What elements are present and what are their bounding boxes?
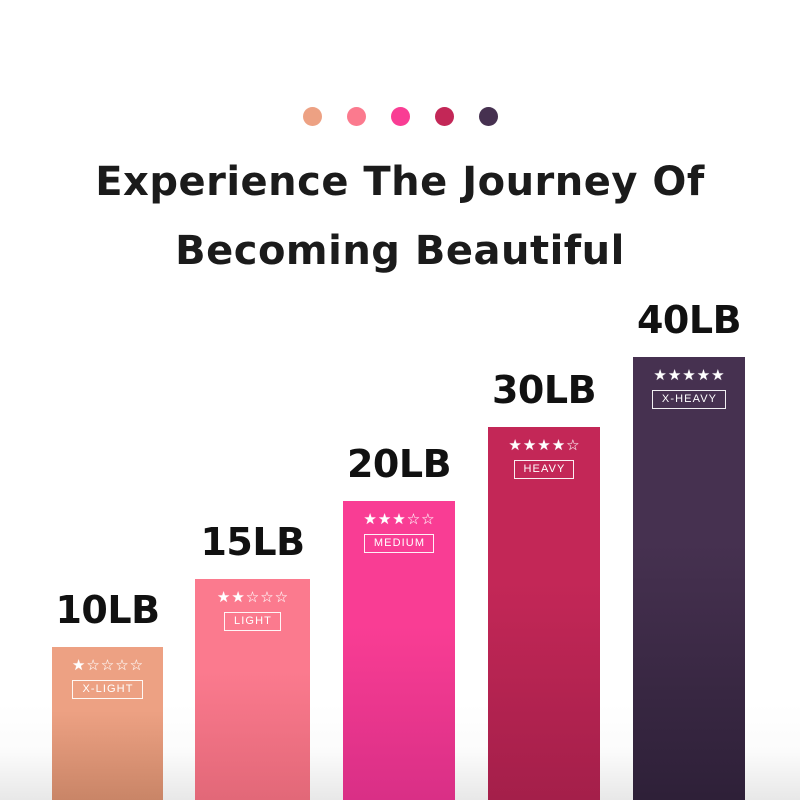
bar-group-20lb[interactable]: 20LB★★★☆☆MEDIUM	[343, 501, 455, 800]
star-empty-icon: ☆	[260, 590, 273, 605]
star-filled-icon: ★	[392, 512, 405, 527]
star-filled-icon: ★	[523, 438, 536, 453]
star-filled-icon: ★	[363, 512, 376, 527]
star-filled-icon: ★	[653, 368, 666, 383]
star-empty-icon: ☆	[275, 590, 288, 605]
star-filled-icon: ★	[508, 438, 521, 453]
bar-badge-20lb: ★★★☆☆MEDIUM	[343, 512, 455, 553]
level-label-x-light: X-LIGHT	[72, 680, 142, 699]
level-label-light: LIGHT	[224, 612, 281, 631]
bar-weight-label-15lb: 15LB	[200, 520, 304, 564]
star-empty-icon: ☆	[86, 658, 99, 673]
star-filled-icon: ★	[697, 368, 710, 383]
star-filled-icon: ★	[682, 368, 695, 383]
star-filled-icon: ★	[72, 658, 85, 673]
bar-weight-label-10lb: 10LB	[55, 588, 159, 632]
bar-weight-label-40lb: 40LB	[637, 298, 741, 342]
level-label-heavy: HEAVY	[514, 460, 575, 479]
star-filled-icon: ★	[711, 368, 724, 383]
poster-canvas: Experience The Journey Of Becoming Beaut…	[0, 0, 800, 800]
resistance-band-bar-chart: 10LB★☆☆☆☆X-LIGHT15LB★★☆☆☆LIGHT20LB★★★☆☆M…	[0, 0, 800, 800]
star-filled-icon: ★	[378, 512, 391, 527]
bar-badge-15lb: ★★☆☆☆LIGHT	[195, 590, 310, 631]
star-rating-20lb: ★★★☆☆	[363, 512, 434, 527]
star-empty-icon: ☆	[407, 512, 420, 527]
star-empty-icon: ☆	[101, 658, 114, 673]
bar-weight-label-30lb: 30LB	[492, 368, 596, 412]
star-filled-icon: ★	[552, 438, 565, 453]
star-rating-15lb: ★★☆☆☆	[217, 590, 288, 605]
star-rating-10lb: ★☆☆☆☆	[72, 658, 143, 673]
star-filled-icon: ★	[231, 590, 244, 605]
star-empty-icon: ☆	[246, 590, 259, 605]
bar-group-15lb[interactable]: 15LB★★☆☆☆LIGHT	[195, 579, 310, 800]
bar-weight-label-20lb: 20LB	[347, 442, 451, 486]
star-empty-icon: ☆	[130, 658, 143, 673]
star-rating-40lb: ★★★★★	[653, 368, 724, 383]
bar-badge-30lb: ★★★★☆HEAVY	[488, 438, 600, 479]
bar-badge-40lb: ★★★★★X-HEAVY	[633, 368, 745, 409]
star-filled-icon: ★	[217, 590, 230, 605]
star-filled-icon: ★	[668, 368, 681, 383]
bar-badge-10lb: ★☆☆☆☆X-LIGHT	[52, 658, 163, 699]
star-empty-icon: ☆	[421, 512, 434, 527]
star-rating-30lb: ★★★★☆	[508, 438, 579, 453]
bar-group-10lb[interactable]: 10LB★☆☆☆☆X-LIGHT	[52, 647, 163, 800]
level-label-medium: MEDIUM	[364, 534, 434, 553]
level-label-x-heavy: X-HEAVY	[652, 390, 726, 409]
bar-40lb[interactable]	[633, 357, 745, 800]
star-filled-icon: ★	[537, 438, 550, 453]
star-empty-icon: ☆	[115, 658, 128, 673]
bar-group-40lb[interactable]: 40LB★★★★★X-HEAVY	[633, 357, 745, 800]
bar-30lb[interactable]	[488, 427, 600, 800]
star-empty-icon: ☆	[566, 438, 579, 453]
bar-group-30lb[interactable]: 30LB★★★★☆HEAVY	[488, 427, 600, 800]
